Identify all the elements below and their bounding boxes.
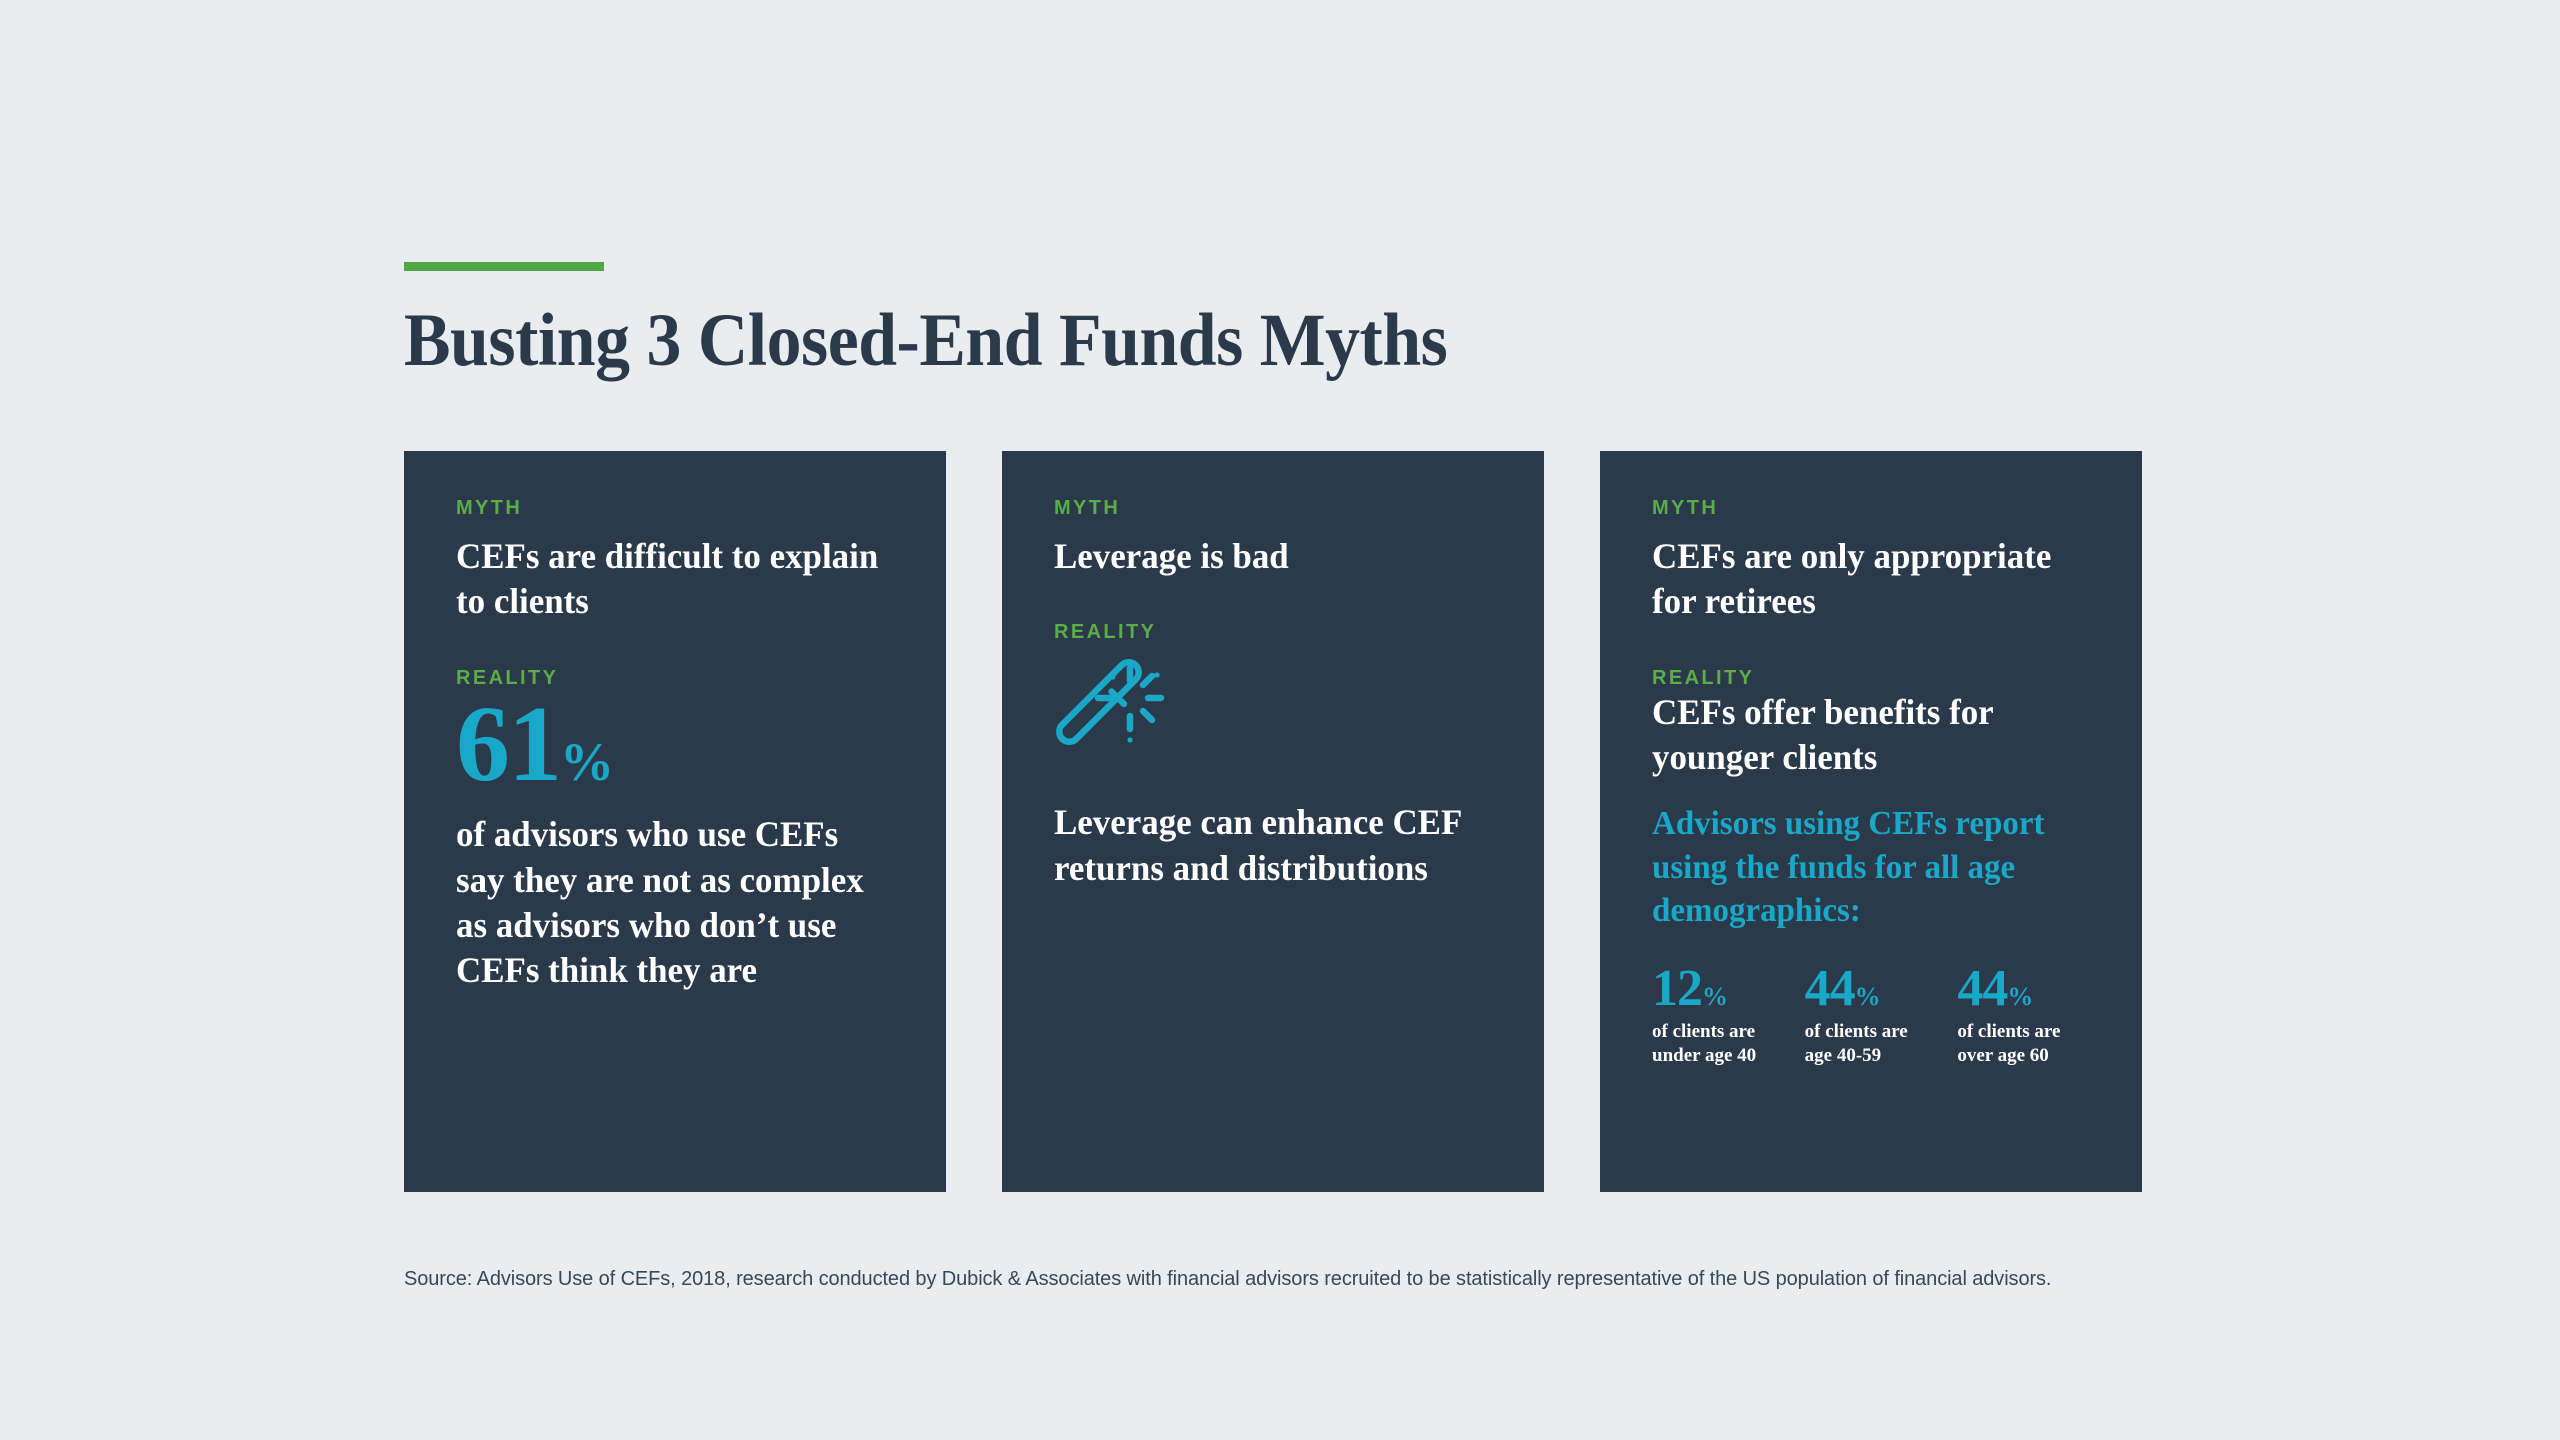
myth-cards-container: MYTH CEFs are difficult to explain to cl…: [404, 451, 2142, 1192]
stat-value-group: 12%: [1652, 963, 1785, 1015]
age-demographics-stats: 12% of clients are under age 40 44% of c…: [1652, 963, 2090, 1115]
page-title: Busting 3 Closed-End Funds Myths: [404, 303, 2041, 378]
statistic-value: 44: [1805, 960, 1855, 1017]
percent-symbol: %: [560, 732, 614, 792]
myth-label: MYTH: [1054, 497, 1492, 520]
headline-statistic: 61%: [456, 694, 894, 797]
myth-statement: Leverage is bad: [1054, 534, 1479, 579]
stat-value-group: 44%: [1957, 963, 2090, 1015]
accent-bar: [404, 262, 604, 271]
stat-item: 12% of clients are under age 40: [1652, 963, 1785, 1069]
reality-body-text: CEFs offer benefits for younger clients: [1652, 690, 2077, 781]
percent-symbol: %: [1855, 982, 1881, 1011]
reality-block: REALITY CEFs offer benefits for younger …: [1652, 667, 2090, 1115]
statistic-value: 12: [1652, 960, 1702, 1017]
statistic-value: 44: [1957, 960, 2007, 1017]
percent-symbol: %: [2007, 982, 2033, 1011]
myth-label: MYTH: [1652, 497, 2090, 520]
header: Busting 3 Closed-End Funds Myths: [404, 262, 2164, 378]
stat-caption: of clients are age 40-59: [1805, 1020, 1938, 1069]
myth-statement: CEFs are only appropriate for retirees: [1652, 534, 2077, 625]
percent-symbol: %: [1702, 982, 1728, 1011]
source-note: Source: Advisors Use of CEFs, 2018, rese…: [404, 1268, 2051, 1291]
stat-item: 44% of clients are age 40-59: [1805, 963, 1938, 1069]
myth-statement: CEFs are difficult to explain to clients: [456, 534, 881, 625]
reality-block: REALITY: [1054, 621, 1492, 937]
statistic-value: 61: [456, 685, 560, 804]
myth-card-2: MYTH Leverage is bad REALITY: [1002, 451, 1544, 1192]
myth-card-3: MYTH CEFs are only appropriate for retir…: [1600, 451, 2142, 1192]
infographic-page: Busting 3 Closed-End Funds Myths MYTH CE…: [0, 0, 2560, 1440]
myth-card-1: MYTH CEFs are difficult to explain to cl…: [404, 451, 946, 1192]
reality-body-text: Leverage can enhance CEF returns and dis…: [1054, 800, 1479, 937]
stat-item: 44% of clients are over age 60: [1957, 963, 2090, 1069]
myth-label: MYTH: [456, 497, 894, 520]
stat-caption: of clients are over age 60: [1957, 1020, 2090, 1069]
reality-label: REALITY: [1054, 621, 1492, 644]
reality-block: REALITY 61% of advisors who use CEFs say…: [456, 667, 894, 1040]
highlight-statement: Advisors using CEFs report using the fun…: [1652, 802, 2077, 933]
stat-value-group: 44%: [1805, 963, 1938, 1015]
magic-wand-icon: [1056, 658, 1168, 770]
stat-caption: of clients are under age 40: [1652, 1020, 1785, 1069]
reality-label: REALITY: [1652, 667, 2090, 690]
reality-body-text: of advisors who use CEFs say they are no…: [456, 812, 881, 1039]
